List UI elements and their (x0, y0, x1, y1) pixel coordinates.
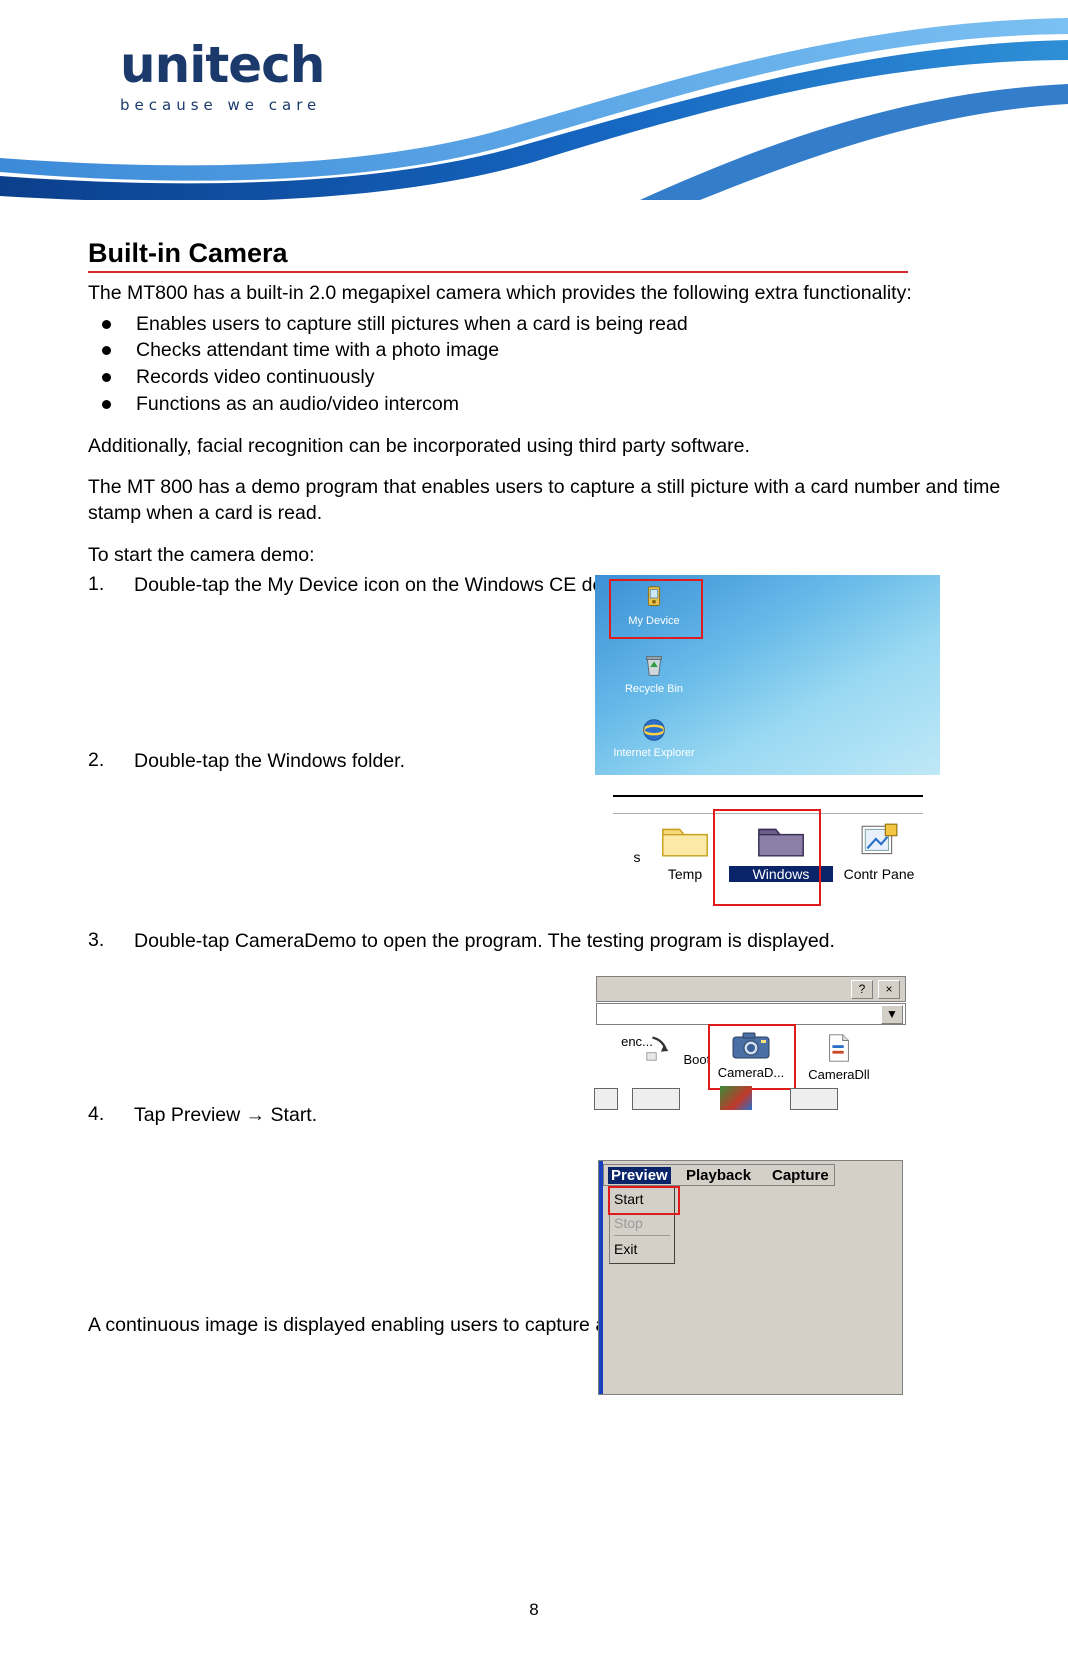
page-number: 8 (0, 1600, 1068, 1620)
desktop-icon-label: Internet Explorer (613, 747, 694, 759)
bullet-icon (102, 320, 111, 329)
step-text: Double-tap the Windows folder. (134, 750, 405, 772)
menu-item-exit[interactable]: Exit (614, 1241, 637, 1257)
list-item: Records video continuously (88, 364, 1008, 391)
internet-explorer-icon (639, 715, 669, 745)
demo-paragraph: The MT 800 has a demo program that enabl… (88, 475, 1008, 526)
step-number: 1. (88, 573, 130, 596)
explorer-titlebar: ? × (596, 976, 906, 1002)
steps-lead: To start the camera demo: (88, 543, 1008, 569)
control-panel-icon (853, 821, 905, 861)
explorer-item-extra-1[interactable] (594, 1088, 618, 1110)
folder-label: Contr Pane (827, 866, 931, 882)
list-item-label: Enables users to capture still pictures … (136, 313, 688, 335)
explorer-item-extra-2[interactable] (632, 1088, 680, 1110)
page-title: Built-in Camera (88, 238, 1008, 269)
step-number: 2. (88, 749, 130, 772)
help-button[interactable]: ? (851, 980, 873, 999)
explorer-address-bar[interactable]: ▼ (596, 1003, 906, 1025)
figure-camerademo-app: Preview Playback Capture Start Stop Exit (598, 1160, 903, 1395)
step-text: Double-tap CameraDemo to open the progra… (134, 930, 835, 952)
explorer-item-extra-3[interactable] (720, 1086, 752, 1110)
app-left-accent-bar (599, 1161, 603, 1394)
desktop-icon-recycle-bin[interactable]: Recycle Bin (609, 651, 699, 695)
folder-icon (659, 821, 711, 861)
list-item: Functions as an audio/video intercom (88, 391, 1008, 418)
shortcut-icon (640, 1032, 680, 1064)
title-divider (88, 271, 908, 273)
app-menubar: Preview Playback Capture (603, 1164, 835, 1186)
close-button[interactable]: × (878, 980, 900, 999)
menu-item-stop: Stop (614, 1215, 643, 1231)
list-item: Checks attendant time with a photo image (88, 337, 1008, 364)
list-item-label: Checks attendant time with a photo image (136, 339, 499, 361)
desktop-icon-label: Recycle Bin (625, 683, 683, 695)
chevron-down-icon[interactable]: ▼ (881, 1005, 903, 1024)
menu-capture[interactable]: Capture (772, 1167, 829, 1184)
list-item-label: Records video continuously (136, 366, 374, 388)
menu-preview[interactable]: Preview (608, 1167, 671, 1184)
dll-file-icon (820, 1032, 858, 1064)
divider-line-top (613, 795, 923, 797)
selection-highlight-camerademo (708, 1024, 796, 1090)
explorer-item-boot[interactable]: Boot (632, 1032, 718, 1067)
step-text: Tap Preview → Start. (134, 1104, 317, 1126)
step-text: Double-tap the My Device icon on the Win… (134, 574, 655, 596)
additional-paragraph: Additionally, facial recognition can be … (88, 434, 1008, 460)
selection-highlight-my-device (609, 579, 703, 639)
brand-logo: unitech because we care (120, 40, 380, 130)
explorer-item-extra-4[interactable] (790, 1088, 838, 1110)
intro-paragraph: The MT800 has a built-in 2.0 megapixel c… (88, 281, 1008, 307)
recycle-bin-icon (639, 651, 669, 681)
figure-ce-desktop: My Device Recycle Bin Internet Explorer (595, 575, 940, 775)
explorer-item-label: Boot (683, 1052, 710, 1067)
bullet-icon (102, 346, 111, 355)
figure-windows-folder: s Temp Windows Contr Pane (595, 795, 940, 915)
list-item-label: Functions as an audio/video intercom (136, 393, 459, 415)
selection-highlight-start (608, 1186, 680, 1215)
folder-item-control-panel[interactable]: Contr Pane (827, 821, 931, 882)
bullet-icon (102, 400, 111, 409)
explorer-item-cameradll[interactable]: CameraDll (796, 1032, 882, 1082)
selection-highlight-windows (713, 809, 821, 906)
brand-name: unitech (120, 40, 380, 90)
brand-tagline: because we care (120, 96, 380, 114)
step-number: 3. (88, 929, 130, 952)
menu-playback[interactable]: Playback (686, 1167, 751, 1184)
explorer-item-label: CameraDll (808, 1067, 869, 1082)
figure-file-explorer: ? × ▼ enc... Boot CameraD... (595, 975, 907, 1127)
step-number: 4. (88, 1103, 130, 1126)
page-header-banner: unitech because we care (0, 0, 1068, 200)
feature-list: Enables users to capture still pictures … (88, 311, 1008, 418)
desktop-icon-internet-explorer[interactable]: Internet Explorer (609, 715, 699, 759)
bullet-icon (102, 373, 111, 382)
menu-separator (614, 1235, 670, 1236)
list-item: Enables users to capture still pictures … (88, 311, 1008, 338)
